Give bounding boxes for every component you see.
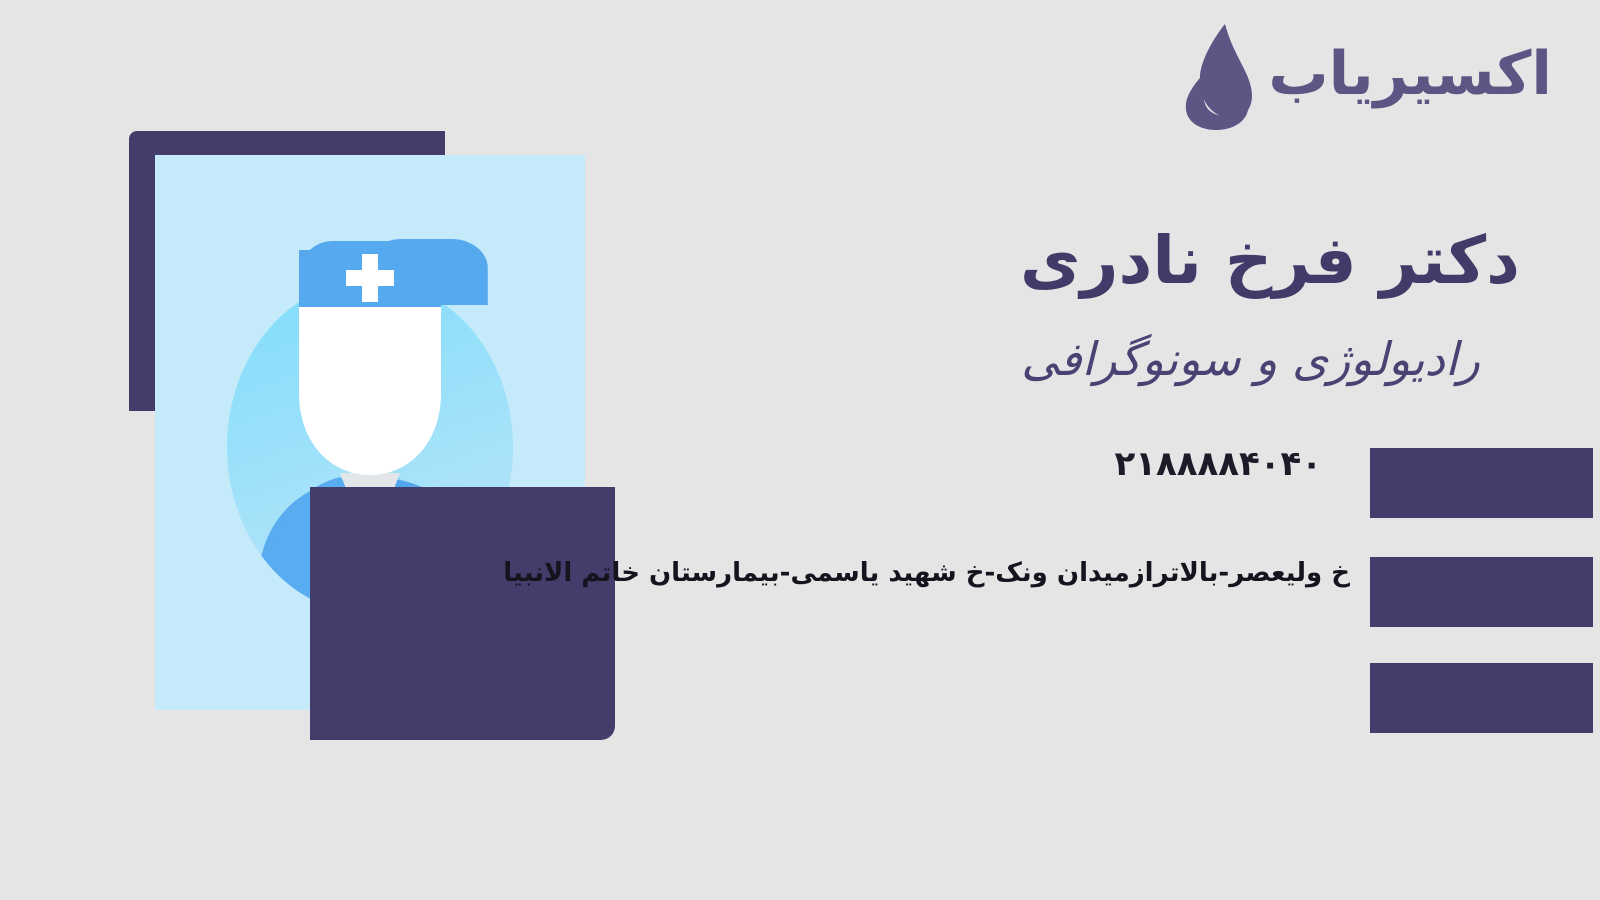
decor-bar-3 [1370, 663, 1593, 733]
decor-bar-2 [1370, 557, 1593, 627]
doctor-phone[interactable]: ۲۱۸۸۸۸۴۰۴۰ [1114, 444, 1322, 484]
doctor-name: دکتر فرخ نادری [1020, 226, 1520, 295]
decor-bar-1 [1370, 448, 1593, 518]
brand-logo[interactable]: اکسیریاب [1178, 22, 1552, 132]
illustration-area [0, 0, 660, 900]
decor-square-front [310, 487, 615, 740]
doctor-address: خ ولیعصر-بالاترازمیدان ونک-خ شهید یاسمی-… [503, 558, 1350, 588]
doctor-profile-banner: اکسیریاب دکتر فرخ نادری رادیولوژی و سونو… [0, 0, 1600, 900]
doctor-specialty: رادیولوژی و سونوگرافی [1021, 332, 1480, 387]
flame-drop-icon [1178, 22, 1256, 132]
brand-name-text: اکسیریاب [1268, 44, 1552, 110]
